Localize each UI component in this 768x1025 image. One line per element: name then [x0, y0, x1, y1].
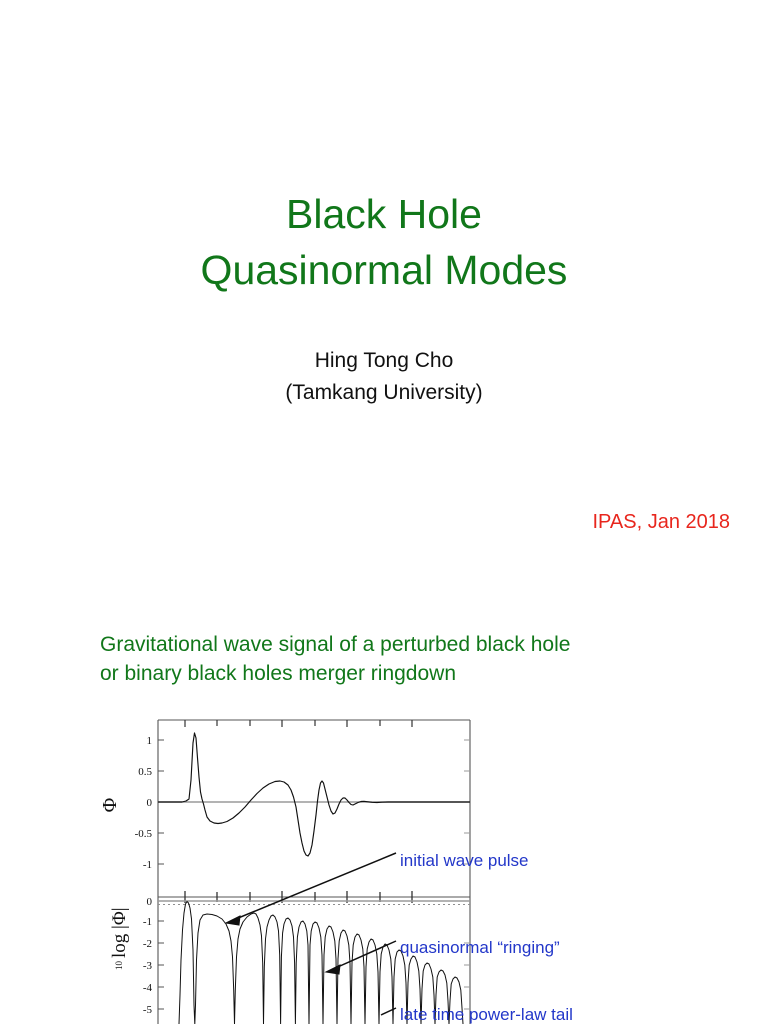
upper-ytick-0.5: 0.5 — [138, 766, 152, 778]
svg-text:log |Φ|: log |Φ| — [109, 907, 130, 958]
upper-ytick--0.5: -0.5 — [135, 828, 153, 840]
upper-ytick-1: 1 — [147, 735, 153, 747]
title-line-1: Black Hole — [0, 186, 768, 242]
upper-top-ticks — [185, 720, 412, 727]
annotation-late-time-power-law-tail: late time power-law tail — [400, 1005, 573, 1025]
svg-text:10: 10 — [114, 961, 124, 971]
arrow-quasinormal-ringing — [326, 941, 396, 974]
page-title: Black Hole Quasinormal Modes — [0, 186, 768, 298]
upper-y-tick-labels: 1 0.5 0 -0.5 -1 — [135, 735, 153, 871]
upper-axis-label-phi: Φ — [100, 797, 121, 812]
slide-canvas: Black Hole Quasinormal Modes Hing Tong C… — [0, 0, 768, 1024]
annotation-quasinormal-ringing: quasinormal “ringing” — [400, 938, 560, 958]
upper-ytick--1: -1 — [143, 859, 152, 871]
author-affiliation: (Tamkang University) — [0, 377, 768, 409]
lower-ytick--1: -1 — [143, 916, 152, 928]
lower-ytick-0: 0 — [147, 896, 153, 908]
author-block: Hing Tong Cho (Tamkang University) — [0, 345, 768, 409]
lower-ytick--2: -2 — [143, 938, 152, 950]
upper-ytick-0: 0 — [147, 797, 153, 809]
venue-date: IPAS, Jan 2018 — [593, 510, 731, 534]
author-name: Hing Tong Cho — [0, 345, 768, 377]
lower-y-tick-labels: 0 -1 -2 -3 -4 -5 — [143, 896, 153, 1016]
lower-axis-label-logphi: 10 log |Φ| — [109, 907, 130, 970]
body-text: Gravitational wave signal of a perturbed… — [100, 630, 700, 688]
lower-ytick--3: -3 — [143, 960, 153, 972]
body-line-2: or binary black holes merger ringdown — [100, 659, 700, 688]
upper-waveform-trace — [158, 733, 470, 856]
lower-y-ticks — [158, 921, 164, 1009]
annotation-initial-wave-pulse: initial wave pulse — [400, 851, 529, 871]
body-line-1: Gravitational wave signal of a perturbed… — [100, 630, 700, 659]
lower-ytick--4: -4 — [143, 982, 153, 994]
title-line-2: Quasinormal Modes — [0, 242, 768, 298]
lower-ytick--5: -5 — [143, 1004, 153, 1016]
